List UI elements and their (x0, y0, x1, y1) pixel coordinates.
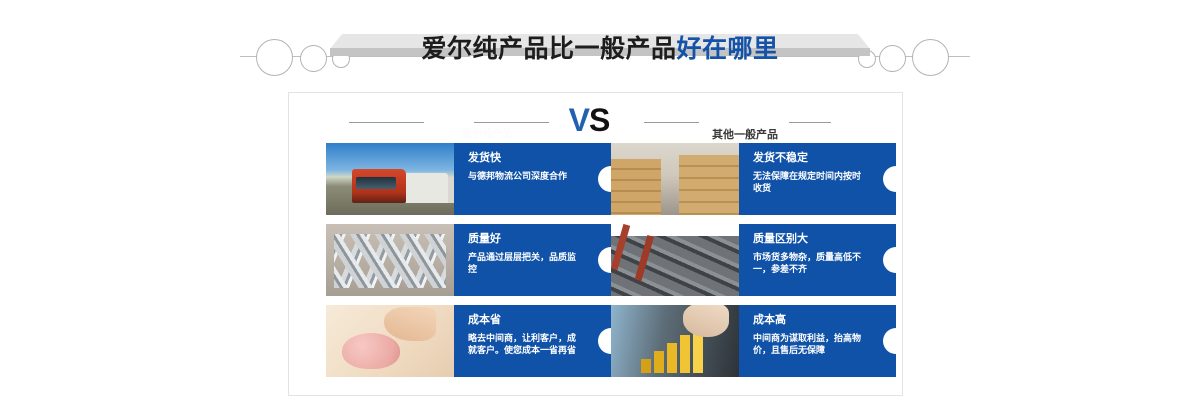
comparison-panel: 爱尔纯产品 VS 其他一般产品 发货快 与德邦物流公司深度合作 (288, 92, 903, 396)
card-image-grey-pipes (611, 224, 739, 296)
photo-metal-tubes-icon (326, 224, 454, 296)
vs-mark-v: V (569, 102, 589, 138)
card-right-1[interactable]: 发货不稳定 无法保障在规定时间内按时收货 (611, 143, 896, 215)
vs-rule-3 (644, 122, 699, 123)
vs-mark: VS (544, 101, 634, 139)
card-body: 成本省 略去中间商，让利客户，成就客户。使您成本一省再省 (454, 305, 611, 377)
card-title: 发货不稳定 (753, 152, 866, 165)
page-header: 爱尔纯产品比一般产品好在哪里 (0, 0, 1200, 86)
card-title: 质量区别大 (753, 233, 866, 246)
card-title: 发货快 (468, 152, 581, 165)
card-title: 成本省 (468, 314, 581, 327)
photo-warehouse-icon (611, 143, 739, 215)
card-description: 产品通过层层把关，品质监控 (468, 251, 581, 275)
page-title-highlight: 好在哪里 (677, 35, 779, 63)
photo-red-truck-icon (326, 143, 454, 215)
card-description: 中间商为谋取利益，抬高物价，且售后无保障 (753, 332, 866, 356)
column-other-products: 发货不稳定 无法保障在规定时间内按时收货 质量区别大 市场货多物杂，质量高低不一… (611, 143, 896, 386)
vs-rule-4 (789, 122, 831, 123)
card-description: 与德邦物流公司深度合作 (468, 170, 581, 182)
photo-piggy-bank-icon (326, 305, 454, 377)
card-title: 成本高 (753, 314, 866, 327)
vs-left-label: 爱尔纯产品 (422, 125, 552, 140)
page-title-primary: 爱尔纯产品比一般产品 (421, 35, 676, 63)
card-body: 质量区别大 市场货多物杂，质量高低不一，参差不齐 (739, 224, 896, 296)
card-image-red-truck (326, 143, 454, 215)
page-title: 爱尔纯产品比一般产品好在哪里 (0, 29, 1200, 65)
card-image-warehouse (611, 143, 739, 215)
card-left-3[interactable]: 成本省 略去中间商，让利客户，成就客户。使您成本一省再省 (326, 305, 611, 377)
card-body: 成本高 中间商为谋取利益，抬高物价，且售后无保障 (739, 305, 896, 377)
vs-right-label: 其他一般产品 (699, 126, 791, 142)
card-left-1[interactable]: 发货快 与德邦物流公司深度合作 (326, 143, 611, 215)
card-description: 无法保障在规定时间内按时收货 (753, 170, 866, 194)
vs-header-row: 爱尔纯产品 VS 其他一般产品 (289, 101, 904, 143)
card-grid: 发货快 与德邦物流公司深度合作 质量好 产品通过层层把关，品质监控 成本 (289, 143, 904, 391)
vs-rule-2 (474, 122, 549, 123)
card-body: 发货快 与德邦物流公司深度合作 (454, 143, 611, 215)
card-right-3[interactable]: 成本高 中间商为谋取利益，抬高物价，且售后无保障 (611, 305, 896, 377)
card-body: 发货不稳定 无法保障在规定时间内按时收货 (739, 143, 896, 215)
card-image-metal-tubes (326, 224, 454, 296)
column-our-products: 发货快 与德邦物流公司深度合作 质量好 产品通过层层把关，品质监控 成本 (326, 143, 611, 386)
photo-gold-coins-icon (611, 305, 739, 377)
card-right-2[interactable]: 质量区别大 市场货多物杂，质量高低不一，参差不齐 (611, 224, 896, 296)
card-description: 市场货多物杂，质量高低不一，参差不齐 (753, 251, 866, 275)
card-title: 质量好 (468, 233, 581, 246)
vs-rule-1 (349, 122, 424, 123)
photo-grey-pipes-icon (611, 224, 739, 296)
card-left-2[interactable]: 质量好 产品通过层层把关，品质监控 (326, 224, 611, 296)
card-description: 略去中间商，让利客户，成就客户。使您成本一省再省 (468, 332, 581, 356)
vs-mark-s: S (589, 102, 609, 138)
card-body: 质量好 产品通过层层把关，品质监控 (454, 224, 611, 296)
card-image-gold-coins (611, 305, 739, 377)
card-image-piggy-bank (326, 305, 454, 377)
